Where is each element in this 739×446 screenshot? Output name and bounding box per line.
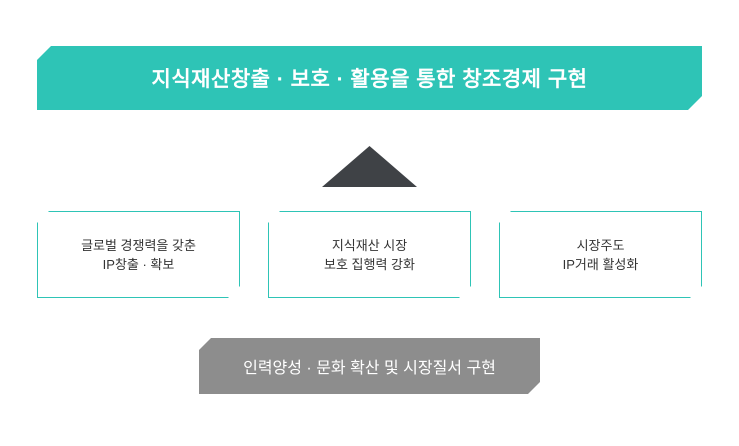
triangle-up-icon [322, 146, 417, 187]
vision-banner-text: 지식재산창출 · 보호 · 활용을 통한 창조경제 구현 [152, 63, 588, 93]
foundation-bar-text: 인력양성 · 문화 확산 및 시장질서 구현 [243, 354, 496, 378]
strategy-box-3-line1: 시장주도 [577, 236, 625, 255]
foundation-bar: 인력양성 · 문화 확산 및 시장질서 구현 [199, 338, 540, 394]
strategy-box-1: 글로벌 경쟁력을 갖춘 IP창출 · 확보 [37, 211, 240, 298]
strategy-box-2-line1: 지식재산 시장 [332, 236, 407, 255]
strategy-diagram: 지식재산창출 · 보호 · 활용을 통한 창조경제 구현 글로벌 경쟁력을 갖춘… [0, 0, 739, 446]
strategy-box-3: 시장주도 IP거래 활성화 [499, 211, 702, 298]
strategy-box-1-line1: 글로벌 경쟁력을 갖춘 [81, 236, 196, 255]
strategy-box-1-line2: IP창출 · 확보 [103, 255, 175, 274]
strategy-box-2-line2: 보호 집행력 강화 [324, 255, 415, 274]
strategy-box-3-line2: IP거래 활성화 [563, 255, 639, 274]
strategy-box-group: 글로벌 경쟁력을 갖춘 IP창출 · 확보 지식재산 시장 보호 집행력 강화 … [0, 211, 739, 298]
vision-banner: 지식재산창출 · 보호 · 활용을 통한 창조경제 구현 [37, 46, 702, 110]
strategy-box-2: 지식재산 시장 보호 집행력 강화 [268, 211, 471, 298]
